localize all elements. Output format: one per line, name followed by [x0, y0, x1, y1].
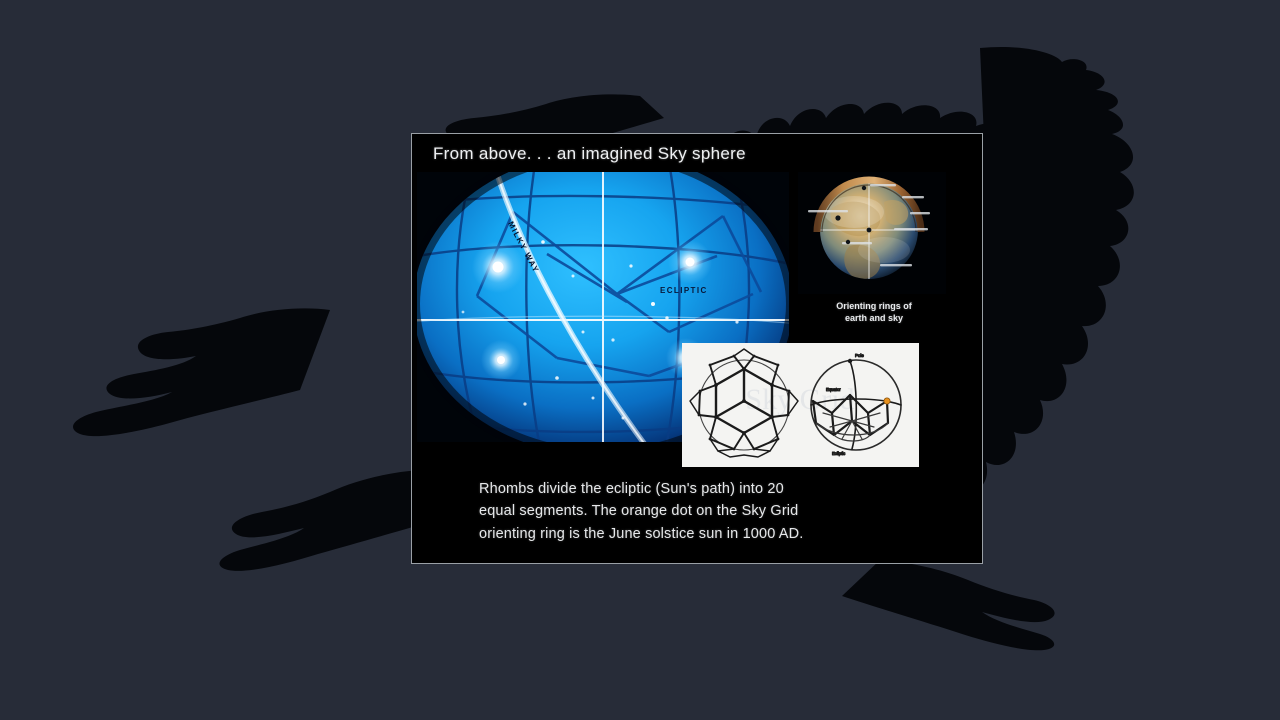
earth-globe-image	[798, 172, 946, 294]
presentation-slide: From above. . . an imagined Sky sphere	[411, 133, 983, 564]
june-solstice-orange-dot	[884, 398, 890, 404]
pole-marker	[848, 359, 852, 363]
diagram-label-equator: Equator	[826, 387, 841, 392]
ecliptic-label: ECLIPTIC	[660, 286, 708, 295]
orienting-rings-caption-line-1: Orienting rings of	[798, 300, 950, 312]
orienting-rings-caption-line-2: earth and sky	[798, 312, 950, 324]
diagram-label-ecliptic: Ecliptic	[832, 451, 845, 456]
rhomb-diagram-panel: Sky Grid	[682, 343, 919, 467]
ink-splatter-wisp-left	[73, 308, 330, 436]
diagram-label-pole: Pole	[855, 353, 864, 358]
slide-caption: Rhombs divide the ecliptic (Sun's path) …	[479, 478, 949, 545]
slide-caption-line-1: Rhombs divide the ecliptic (Sun's path) …	[479, 478, 949, 500]
slide-caption-line-2: equal segments. The orange dot on the Sk…	[479, 500, 949, 522]
orienting-rings-caption: Orienting rings of earth and sky	[798, 300, 950, 324]
slide-title: From above. . . an imagined Sky sphere	[433, 144, 746, 164]
ink-splatter-wisp-bottom-right	[842, 560, 1055, 650]
slide-caption-line-3: orienting ring is the June solstice sun …	[479, 523, 949, 545]
